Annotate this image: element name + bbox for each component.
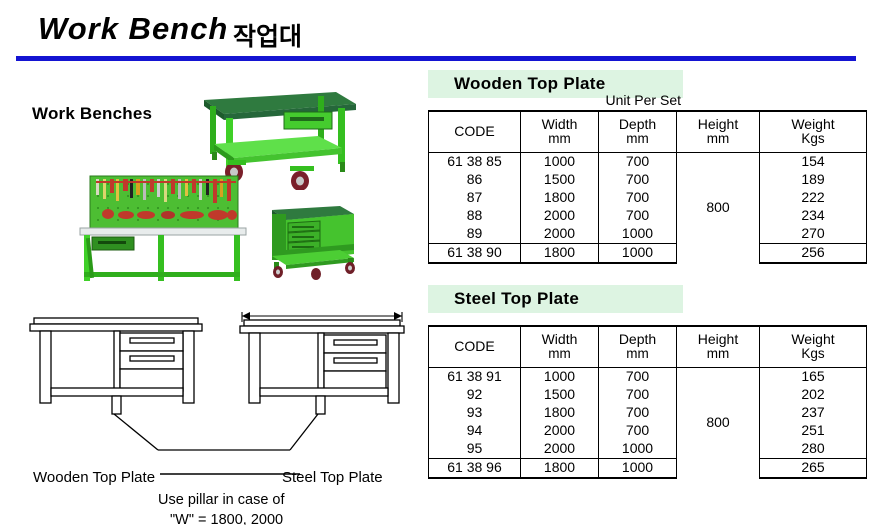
cell-code: 61 38 90 (429, 244, 521, 264)
page-title-korean: 작업대 (233, 17, 302, 53)
table-row: 95 2000 1000 280 (429, 440, 867, 459)
cell-height: 800 (677, 153, 760, 264)
cell-weight: 270 (760, 225, 867, 244)
cell-code: 86 (429, 171, 521, 189)
cell-depth: 700 (599, 189, 677, 207)
section-band-wooden: Wooden Top Plate Unit Per Set (428, 70, 683, 98)
table-row: 61 38 85 1000 700 800 154 (429, 153, 867, 172)
cell-depth: 700 (599, 404, 677, 422)
col-header-weight: Weight Kgs (760, 326, 867, 368)
table-header-row: CODE Width mm Depth mm Height mm (429, 111, 867, 153)
cell-code: 61 38 91 (429, 368, 521, 387)
table-row: 93 1800 700 237 (429, 404, 867, 422)
cell-code: 88 (429, 207, 521, 225)
table-row: 92 1500 700 202 (429, 386, 867, 404)
cell-width: 1500 (521, 386, 599, 404)
col-header-weight: Weight Kgs (760, 111, 867, 153)
unit-per-set-note: Unit Per Set (606, 92, 681, 108)
col-header-code: CODE (429, 326, 521, 368)
cell-code: 93 (429, 404, 521, 422)
spec-table-wooden: CODE Width mm Depth mm Height mm (428, 110, 867, 264)
section-band-label: Steel Top Plate (454, 289, 579, 309)
tool-cart-photo (258, 192, 363, 280)
cell-code: 95 (429, 440, 521, 459)
table-row: 61 38 90 1800 1000 256 (429, 244, 867, 264)
pillar-note-line-2: "W" = 1800, 2000 (170, 512, 283, 525)
cell-code: 61 38 96 (429, 459, 521, 479)
table-row: 61 38 96 1800 1000 265 (429, 459, 867, 479)
pillar-note-line-1: Use pillar in case of (158, 492, 285, 508)
table-header-row: CODE Width mm Depth mm Height mm (429, 326, 867, 368)
cell-width: 1800 (521, 404, 599, 422)
cell-depth: 1000 (599, 225, 677, 244)
cell-weight: 154 (760, 153, 867, 172)
cell-width: 1500 (521, 171, 599, 189)
cell-weight: 251 (760, 422, 867, 440)
cell-depth: 700 (599, 422, 677, 440)
col-header-width: Width mm (521, 111, 599, 153)
cell-width: 2000 (521, 422, 599, 440)
cell-width: 2000 (521, 207, 599, 225)
table-row: 94 2000 700 251 (429, 422, 867, 440)
table-row: 89 2000 1000 270 (429, 225, 867, 244)
wooden-top-plate-section: Wooden Top Plate Unit Per Set CODE Width… (428, 70, 866, 264)
cell-code: 89 (429, 225, 521, 244)
col-header-depth: Depth mm (599, 111, 677, 153)
header-divider (16, 56, 856, 61)
cell-depth: 1000 (599, 459, 677, 479)
page-title: Work Bench (38, 11, 228, 47)
steel-top-plate-section: Steel Top Plate CODE Width mm Depth (428, 285, 866, 479)
cell-width: 1000 (521, 153, 599, 172)
catalog-page: Work Bench 작업대 Work Benches (0, 0, 869, 525)
cell-depth: 700 (599, 171, 677, 189)
cell-weight: 280 (760, 440, 867, 459)
section-label: Work Benches (32, 104, 152, 124)
col-header-width: Width mm (521, 326, 599, 368)
cell-weight: 165 (760, 368, 867, 387)
col-header-depth: Depth mm (599, 326, 677, 368)
drawing-caption-wooden: Wooden Top Plate (33, 469, 155, 486)
illustration-pane: Work Benches (0, 62, 424, 525)
cell-weight: 234 (760, 207, 867, 225)
cell-depth: 700 (599, 386, 677, 404)
cell-code: 94 (429, 422, 521, 440)
table-row: 87 1800 700 222 (429, 189, 867, 207)
col-header-height: Height mm (677, 111, 760, 153)
cell-width: 2000 (521, 440, 599, 459)
cell-weight: 189 (760, 171, 867, 189)
table-row: 88 2000 700 234 (429, 207, 867, 225)
section-band-steel: Steel Top Plate (428, 285, 683, 313)
cell-code: 87 (429, 189, 521, 207)
cell-code: 92 (429, 386, 521, 404)
cell-width: 2000 (521, 225, 599, 244)
table-row: 61 38 91 1000 700 800 165 (429, 368, 867, 387)
page-header: Work Bench 작업대 (0, 0, 869, 62)
col-header-height: Height mm (677, 326, 760, 368)
cell-depth: 700 (599, 153, 677, 172)
technical-drawings: Use pillar in case of "W" = 1800, 2000 W… (0, 300, 424, 525)
cell-depth: 700 (599, 207, 677, 225)
cell-depth: 700 (599, 368, 677, 387)
spec-table-steel: CODE Width mm Depth mm Height mm (428, 325, 867, 479)
cell-weight: 237 (760, 404, 867, 422)
cell-width: 1800 (521, 244, 599, 264)
pegboard-workbench-photo (68, 168, 258, 288)
drawing-caption-steel: Steel Top Plate (282, 469, 383, 486)
cell-depth: 1000 (599, 244, 677, 264)
cell-width: 1800 (521, 459, 599, 479)
cell-height: 800 (677, 368, 760, 479)
section-band-label: Wooden Top Plate (454, 74, 606, 94)
col-header-code: CODE (429, 111, 521, 153)
cell-weight: 256 (760, 244, 867, 264)
table-row: 86 1500 700 189 (429, 171, 867, 189)
cell-width: 1000 (521, 368, 599, 387)
cell-weight: 202 (760, 386, 867, 404)
cell-code: 61 38 85 (429, 153, 521, 172)
cell-depth: 1000 (599, 440, 677, 459)
cell-weight: 265 (760, 459, 867, 479)
cell-weight: 222 (760, 189, 867, 207)
cell-width: 1800 (521, 189, 599, 207)
